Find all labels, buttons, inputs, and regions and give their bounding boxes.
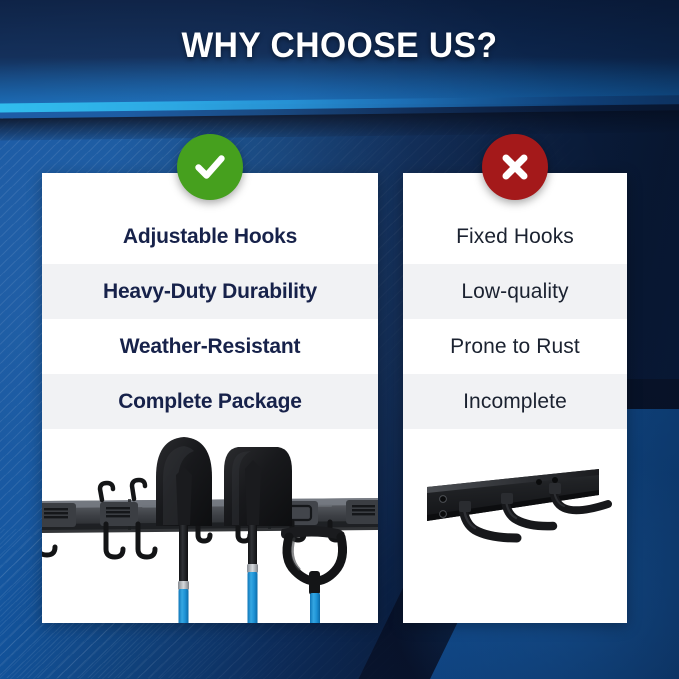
list-item: Incomplete <box>403 374 627 429</box>
pros-list: Adjustable Hooks Heavy-Duty Durability W… <box>42 173 378 429</box>
list-item: Prone to Rust <box>403 319 627 374</box>
check-badge <box>177 134 243 200</box>
list-item: Adjustable Hooks <box>42 209 378 264</box>
list-item: Low-quality <box>403 264 627 319</box>
cons-product-image <box>403 429 627 623</box>
cons-item-label: Prone to Rust <box>450 335 580 359</box>
pros-item-label: Adjustable Hooks <box>123 225 297 249</box>
pros-item-label: Weather-Resistant <box>120 335 301 359</box>
pros-product-image <box>42 429 378 623</box>
cons-item-label: Fixed Hooks <box>456 225 574 249</box>
cons-card: Fixed Hooks Low-quality Prone to Rust In… <box>403 173 627 623</box>
list-item: Complete Package <box>42 374 378 429</box>
pros-card: Adjustable Hooks Heavy-Duty Durability W… <box>42 173 378 623</box>
cons-item-label: Low-quality <box>461 280 568 304</box>
list-item: Fixed Hooks <box>403 209 627 264</box>
check-icon <box>190 147 230 187</box>
fixed-hook-bracket-illustration <box>403 429 627 623</box>
tool-rail-organizer-illustration <box>42 429 378 623</box>
pros-item-label: Heavy-Duty Durability <box>103 280 317 304</box>
pros-item-label: Complete Package <box>118 390 302 414</box>
cons-list: Fixed Hooks Low-quality Prone to Rust In… <box>403 173 627 429</box>
page-title: WHY CHOOSE US? <box>14 26 666 66</box>
x-badge <box>482 134 548 200</box>
upper-hooks <box>100 480 145 500</box>
infographic-canvas: WHY CHOOSE US? Adjustable Hooks Heavy-Du… <box>0 0 679 679</box>
cons-item-label: Incomplete <box>463 390 567 414</box>
list-item: Weather-Resistant <box>42 319 378 374</box>
list-item: Heavy-Duty Durability <box>42 264 378 319</box>
x-icon <box>497 149 533 185</box>
